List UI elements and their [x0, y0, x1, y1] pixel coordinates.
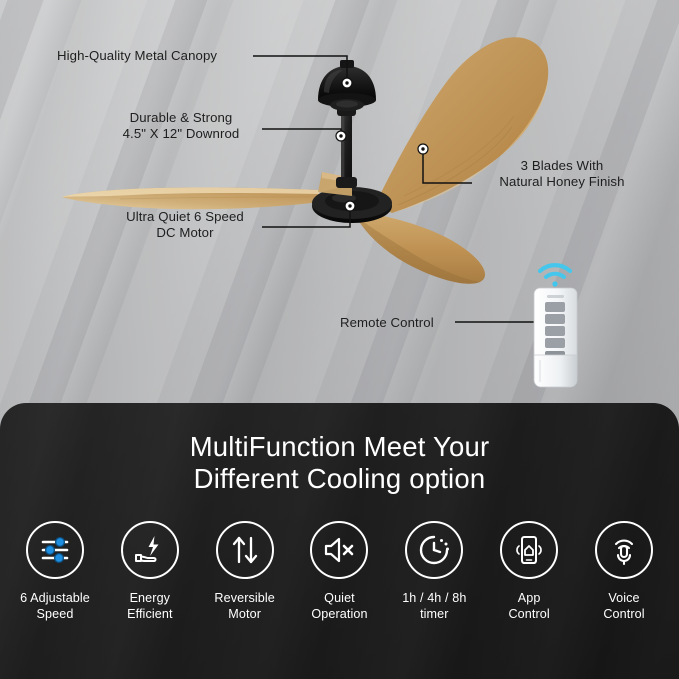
- feature-item-timer[interactable]: 1h / 4h / 8h timer: [387, 521, 481, 622]
- callout-downrod-line2: 4.5" X 12" Downrod: [105, 126, 257, 142]
- feature-label: Reversible Motor: [214, 590, 275, 622]
- feature-label-line1: 6 Adjustable: [20, 590, 90, 606]
- headline-line2: Different Cooling option: [0, 463, 679, 495]
- feature-label: 6 Adjustable Speed: [20, 590, 90, 622]
- feature-item-voice-control[interactable]: Voice Control: [577, 521, 671, 622]
- feature-item-reversible-motor[interactable]: Reversible Motor: [198, 521, 292, 622]
- feature-label: Energy Efficient: [127, 590, 172, 622]
- feature-panel: MultiFunction Meet Your Different Coolin…: [0, 403, 679, 679]
- feature-item-energy-efficient[interactable]: Energy Efficient: [103, 521, 197, 622]
- feature-label: App Control: [508, 590, 549, 622]
- up-down-arrows-icon: [216, 521, 274, 579]
- feature-item-quiet-operation[interactable]: Quiet Operation: [292, 521, 386, 622]
- feature-label-line1: Voice: [603, 590, 644, 606]
- feature-label-line2: Control: [508, 606, 549, 622]
- callout-blades-label: 3 Blades With Natural Honey Finish: [478, 158, 646, 189]
- feature-label-line1: Quiet: [311, 590, 367, 606]
- feature-item-app-control[interactable]: App Control: [482, 521, 576, 622]
- feature-label-line2: timer: [402, 606, 466, 622]
- sliders-icon: [26, 521, 84, 579]
- feature-label-line1: Reversible: [214, 590, 275, 606]
- feature-label-line1: Energy: [127, 590, 172, 606]
- feature-label-line2: Efficient: [127, 606, 172, 622]
- wifi-signal-icon: [540, 265, 570, 287]
- feature-label-line2: Speed: [20, 606, 90, 622]
- feature-label-line2: Control: [603, 606, 644, 622]
- hand-bolt-icon: [121, 521, 179, 579]
- feature-label: Voice Control: [603, 590, 644, 622]
- product-photo-panel: High-Quality Metal Canopy Durable & Stro…: [0, 0, 679, 420]
- timer-clock-icon: [405, 521, 463, 579]
- feature-label: 1h / 4h / 8h timer: [402, 590, 466, 622]
- fan-blade-left: [62, 187, 320, 209]
- callout-downrod-label: Durable & Strong 4.5" X 12" Downrod: [105, 110, 257, 141]
- callout-motor-line1: Ultra Quiet 6 Speed: [113, 209, 257, 225]
- feature-label-line2: Operation: [311, 606, 367, 622]
- feature-item-adjustable-speed[interactable]: 6 Adjustable Speed: [8, 521, 102, 622]
- fan-blade-lower-right: [356, 212, 485, 284]
- feature-label-line2: Motor: [214, 606, 275, 622]
- callout-remote-label: Remote Control: [340, 315, 434, 331]
- headline-line1: MultiFunction Meet Your: [0, 431, 679, 463]
- feature-label: Quiet Operation: [311, 590, 367, 622]
- callout-blades-line2: Natural Honey Finish: [478, 174, 646, 190]
- callout-motor-line2: DC Motor: [113, 225, 257, 241]
- feature-label-line1: App: [508, 590, 549, 606]
- speaker-mute-icon: [310, 521, 368, 579]
- microphone-icon: [595, 521, 653, 579]
- panel-headline: MultiFunction Meet Your Different Coolin…: [0, 431, 679, 495]
- callout-motor-label: Ultra Quiet 6 Speed DC Motor: [113, 209, 257, 240]
- feature-icon-row: 6 Adjustable Speed Energy Efficient: [0, 521, 679, 622]
- callout-blades-line1: 3 Blades With: [478, 158, 646, 174]
- feature-label-line1: 1h / 4h / 8h: [402, 590, 466, 606]
- remote-control-illustration: [534, 265, 577, 387]
- callout-canopy-label: High-Quality Metal Canopy: [57, 48, 217, 64]
- callout-downrod-line1: Durable & Strong: [105, 110, 257, 126]
- phone-home-icon: [500, 521, 558, 579]
